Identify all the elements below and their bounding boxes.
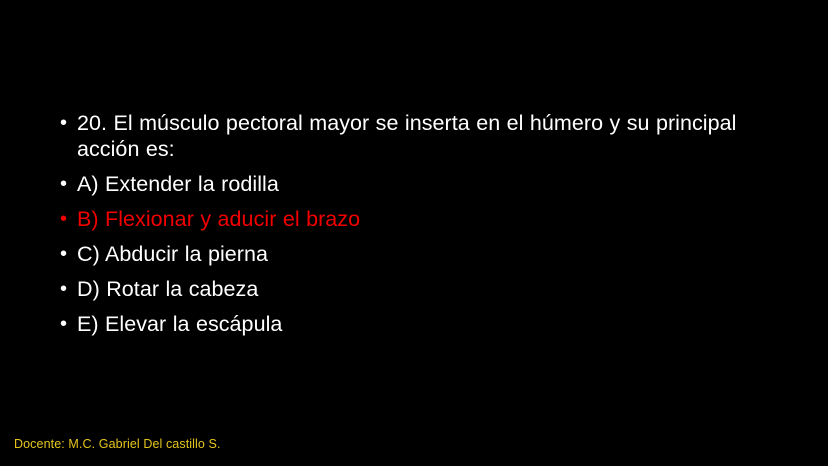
option-a-text: A) Extender la rodilla [77,171,760,197]
bullet-icon: • [60,206,77,232]
question-text: 20. El músculo pectoral mayor se inserta… [77,110,760,162]
list-item: • A) Extender la rodilla [60,171,760,197]
list-item-correct-answer: • B) Flexionar y aducir el brazo [60,206,760,232]
option-d-text: D) Rotar la cabeza [77,276,760,302]
slide-footer: Docente: M.C. Gabriel Del castillo S. [14,437,221,452]
list-item: • 20. El músculo pectoral mayor se inser… [60,110,760,162]
bullet-icon: • [60,110,77,136]
option-b-text: B) Flexionar y aducir el brazo [77,206,760,232]
bullet-icon: • [60,241,77,267]
bullet-icon: • [60,311,77,337]
list-item: • D) Rotar la cabeza [60,276,760,302]
slide-body-placeholder: • 20. El músculo pectoral mayor se inser… [60,110,760,337]
option-c-text: C) Abducir la pierna [77,241,760,267]
slide-canvas: • 20. El músculo pectoral mayor se inser… [0,0,828,466]
bullet-icon: • [60,276,77,302]
option-e-text: E) Elevar la escápula [77,311,760,337]
list-item: • E) Elevar la escápula [60,311,760,337]
bullet-icon: • [60,171,77,197]
list-item: • C) Abducir la pierna [60,241,760,267]
